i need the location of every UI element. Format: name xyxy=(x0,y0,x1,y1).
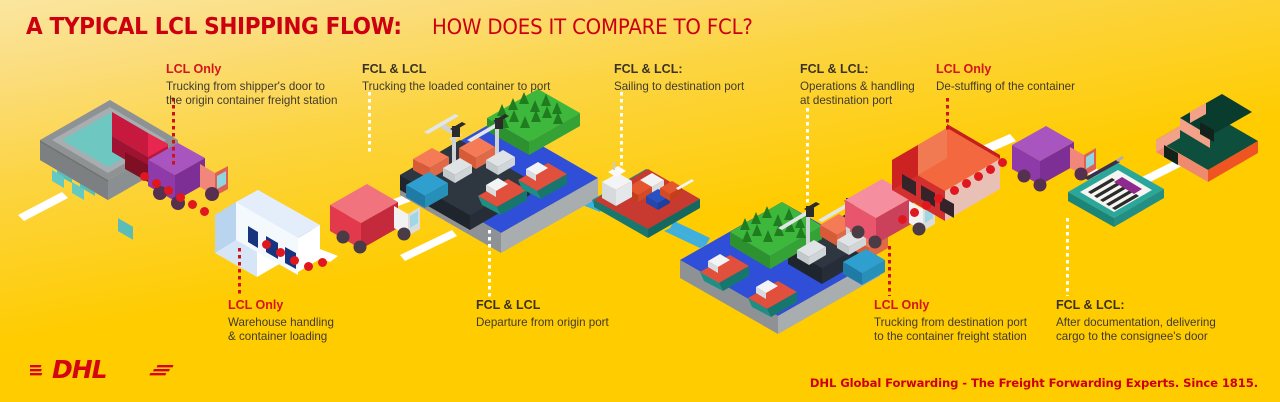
annotation-line-1: Sailing to destination port xyxy=(614,80,744,94)
leader-line-step-8 xyxy=(946,98,949,130)
annotation-line-2: at destination port xyxy=(800,94,915,108)
annotation-line-2: cargo to the consignee's door xyxy=(1056,330,1216,344)
annotation-kind: LCL Only xyxy=(228,298,334,313)
leader-line-step-5 xyxy=(620,92,623,174)
purple-delivery-truck-icon xyxy=(1012,126,1096,192)
annotation-line-1: Operations & handling xyxy=(800,80,915,94)
annotation-step-7-trucking-from-port: LCL Only Trucking from destination port … xyxy=(874,298,1027,344)
annotation-step-1-trucking-origin: LCL Only Trucking from shipper's door to… xyxy=(166,62,337,108)
annotation-line-2: to the container freight station xyxy=(874,330,1027,344)
annotation-step-2-warehouse-handling: LCL Only Warehouse handling & container … xyxy=(228,298,334,344)
leader-line-step-3 xyxy=(368,92,371,152)
annotation-line-2: & container loading xyxy=(228,330,334,344)
infographic-canvas: A TYPICAL LCL SHIPPING FLOW:HOW DOES IT … xyxy=(0,0,1280,402)
annotation-line-1: Warehouse handling xyxy=(228,316,334,330)
annotation-kind: FCL & LCL: xyxy=(800,62,915,77)
annotation-kind: FCL & LCL: xyxy=(614,62,744,77)
annotation-kind: FCL & LCL xyxy=(476,298,609,313)
leader-line-step-1 xyxy=(172,98,175,168)
leader-line-step-4 xyxy=(488,230,491,298)
annotation-step-9-delivery-consignee: FCL & LCL: After documentation, deliveri… xyxy=(1056,298,1216,344)
annotation-step-5-sailing: FCL & LCL: Sailing to destination port xyxy=(614,62,744,94)
annotation-kind: LCL Only xyxy=(936,62,1075,77)
annotation-step-4-departure-origin-port: FCL & LCL Departure from origin port xyxy=(476,298,609,330)
annotation-line-1: De-stuffing of the container xyxy=(936,80,1075,94)
annotation-step-6-operations-destination: FCL & LCL: Operations & handling at dest… xyxy=(800,62,915,108)
annotation-step-3-trucking-to-port: FCL & LCL Trucking the loaded container … xyxy=(362,62,550,94)
annotation-line-1: Trucking from shipper's door to xyxy=(166,80,337,94)
annotation-line-1: Trucking from destination port xyxy=(874,316,1027,330)
annotation-line-2: the origin container freight station xyxy=(166,94,337,108)
annotation-line-1: After documentation, delivering xyxy=(1056,316,1216,330)
origin-port-icon xyxy=(400,89,598,253)
annotation-kind: LCL Only xyxy=(874,298,1027,313)
annotation-line-1: Trucking the loaded container to port xyxy=(362,80,550,94)
annotation-kind: LCL Only xyxy=(166,62,337,77)
dhl-logo: DHL xyxy=(30,354,180,388)
leader-line-step-6 xyxy=(806,108,809,206)
annotation-kind: FCL & LCL: xyxy=(1056,298,1216,313)
dhl-logo-text: DHL xyxy=(52,355,107,384)
leader-line-step-7 xyxy=(888,246,891,296)
footer-tagline: DHL Global Forwarding - The Freight Forw… xyxy=(810,376,1258,390)
leader-line-step-9 xyxy=(1066,218,1069,296)
annotation-step-8-destuffing: LCL Only De-stuffing of the container xyxy=(936,62,1075,94)
annotation-kind: FCL & LCL xyxy=(362,62,550,77)
annotation-line-1: Departure from origin port xyxy=(476,316,609,330)
leader-line-step-2 xyxy=(238,248,241,296)
